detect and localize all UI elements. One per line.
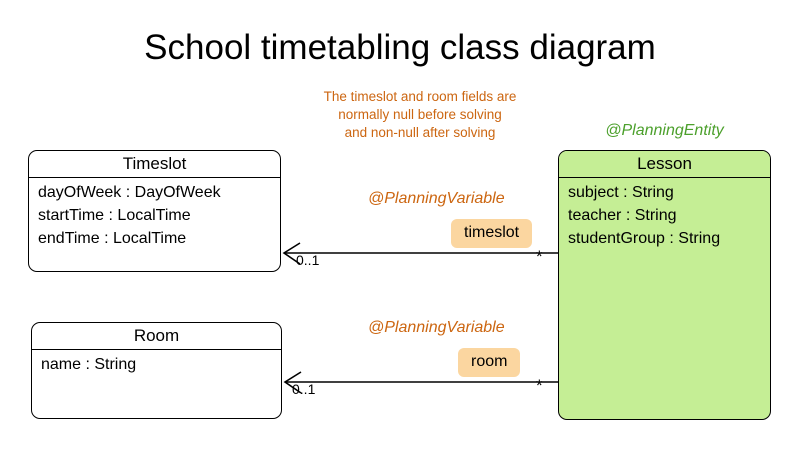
- class-name-lesson: Lesson: [559, 151, 770, 178]
- attribute-row: teacher : String: [568, 204, 770, 227]
- role-badge-timeslot[interactable]: timeslot: [451, 219, 532, 248]
- class-attributes-lesson: subject : String teacher : String studen…: [559, 178, 770, 254]
- class-name-room: Room: [32, 323, 281, 350]
- attribute-row: name : String: [41, 353, 281, 376]
- attribute-row: endTime : LocalTime: [38, 227, 280, 250]
- class-box-room[interactable]: Room name : String: [31, 322, 282, 419]
- diagram-note-line-3: and non-null after solving: [285, 124, 555, 142]
- class-name-timeslot: Timeslot: [29, 151, 280, 178]
- multiplicity-timeslot-target: 0..1: [296, 252, 319, 268]
- role-badge-room[interactable]: room: [458, 348, 520, 377]
- multiplicity-room-target: 0..1: [292, 381, 315, 397]
- attribute-row: studentGroup : String: [568, 227, 770, 250]
- stereotype-planning-variable-timeslot: @PlanningVariable: [368, 189, 505, 209]
- diagram-note-line-1: The timeslot and room fields are: [285, 88, 555, 106]
- class-box-lesson[interactable]: Lesson subject : String teacher : String…: [558, 150, 771, 420]
- multiplicity-timeslot-source: *: [536, 249, 543, 265]
- attribute-row: subject : String: [568, 181, 770, 204]
- class-box-timeslot[interactable]: Timeslot dayOfWeek : DayOfWeek startTime…: [28, 150, 281, 272]
- class-attributes-room: name : String: [32, 350, 281, 380]
- multiplicity-room-source: *: [536, 378, 543, 394]
- page-title: School timetabling class diagram: [0, 27, 800, 69]
- stereotype-planning-variable-room: @PlanningVariable: [368, 318, 505, 338]
- diagram-note: The timeslot and room fields are normall…: [285, 88, 555, 142]
- diagram-note-line-2: normally null before solving: [285, 106, 555, 124]
- stereotype-planning-entity: @PlanningEntity: [558, 121, 771, 141]
- attribute-row: startTime : LocalTime: [38, 204, 280, 227]
- class-diagram-canvas: School timetabling class diagram The tim…: [0, 0, 800, 450]
- attribute-row: dayOfWeek : DayOfWeek: [38, 181, 280, 204]
- class-attributes-timeslot: dayOfWeek : DayOfWeek startTime : LocalT…: [29, 178, 280, 254]
